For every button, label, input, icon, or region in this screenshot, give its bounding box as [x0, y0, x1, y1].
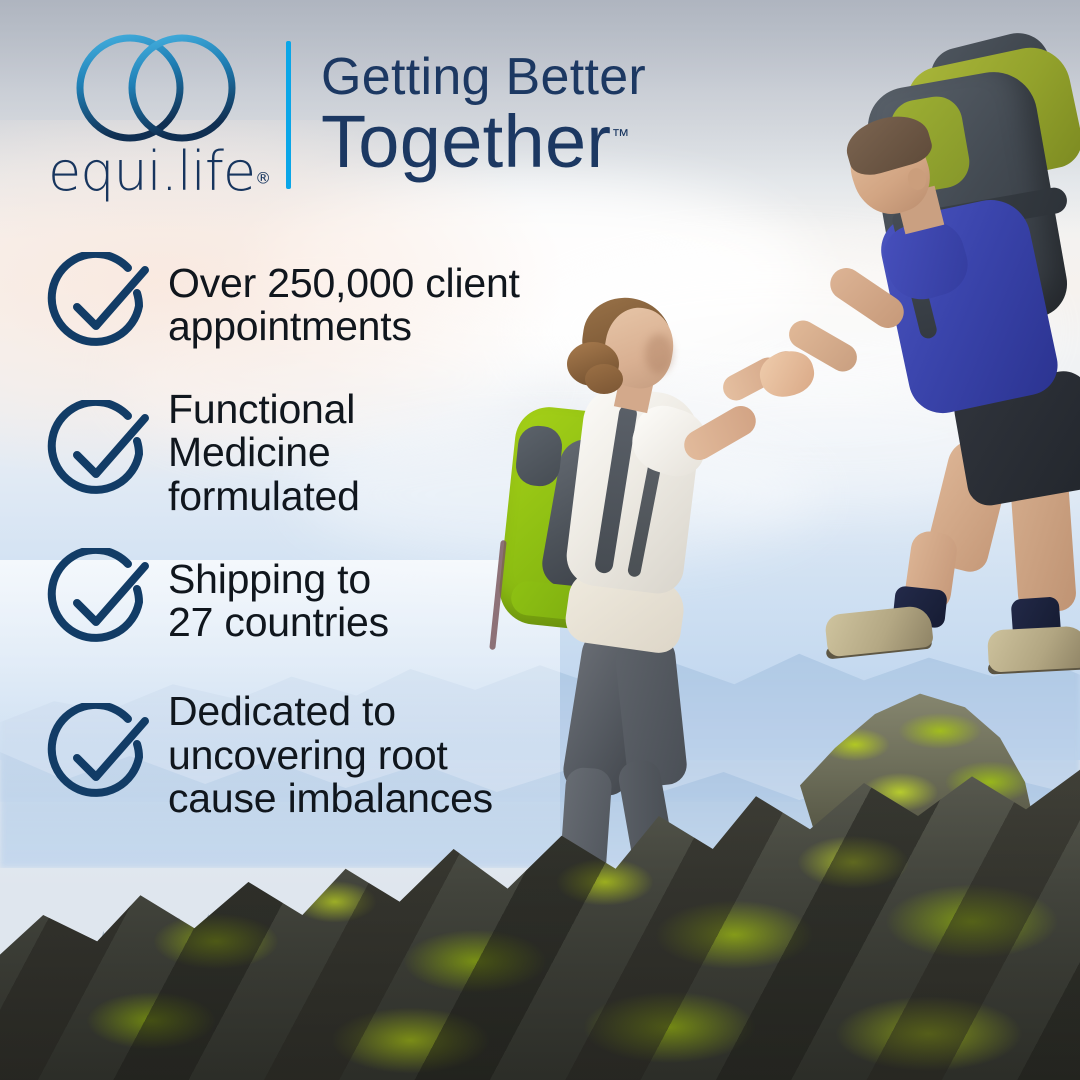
benefits-list: Over 250,000 client appointments Functio… [44, 252, 624, 847]
list-item-label: Shipping to 27 countries [168, 558, 389, 645]
two-overlapping-circles-icon [70, 32, 242, 144]
text-line: Dedicated to [168, 690, 493, 733]
promo-image: equi.life® Getting Better Together™ Over [0, 0, 1080, 1080]
check-circle-icon [44, 703, 154, 809]
vertical-divider [286, 41, 291, 189]
check-circle-icon [44, 548, 154, 654]
check-circle-icon [44, 400, 154, 506]
brand-header: equi.life® Getting Better Together™ [44, 32, 646, 198]
list-item-label: Functional Medicine formulated [168, 388, 360, 518]
tagline-line-1: Getting Better [321, 51, 646, 103]
text-line: uncovering root [168, 734, 493, 777]
wordmark-text: equi.life [48, 140, 255, 203]
tagline-line-2-text: Together [321, 100, 611, 183]
list-item: Dedicated to uncovering root cause imbal… [44, 690, 624, 820]
wordmark: equi.life® [48, 146, 272, 198]
list-item: Functional Medicine formulated [44, 388, 624, 518]
list-item-label: Over 250,000 client appointments [168, 262, 520, 349]
text-line: formulated [168, 475, 360, 518]
text-line: Medicine [168, 431, 360, 474]
text-line: Over 250,000 client [168, 262, 520, 305]
list-item: Shipping to 27 countries [44, 548, 624, 654]
tagline-line-2: Together™ [321, 105, 646, 179]
text-line: appointments [168, 305, 520, 348]
list-item: Over 250,000 client appointments [44, 252, 624, 358]
text-line: Functional [168, 388, 360, 431]
text-line: 27 countries [168, 601, 389, 644]
tagline: Getting Better Together™ [321, 51, 646, 179]
logo-block[interactable]: equi.life® [44, 32, 272, 198]
check-circle-icon [44, 252, 154, 358]
content-overlay: equi.life® Getting Better Together™ Over [0, 0, 1080, 1080]
trademark-mark: ™ [611, 125, 629, 145]
text-line: cause imbalances [168, 777, 493, 820]
text-line: Shipping to [168, 558, 389, 601]
list-item-label: Dedicated to uncovering root cause imbal… [168, 690, 493, 820]
registered-mark: ® [255, 169, 270, 188]
